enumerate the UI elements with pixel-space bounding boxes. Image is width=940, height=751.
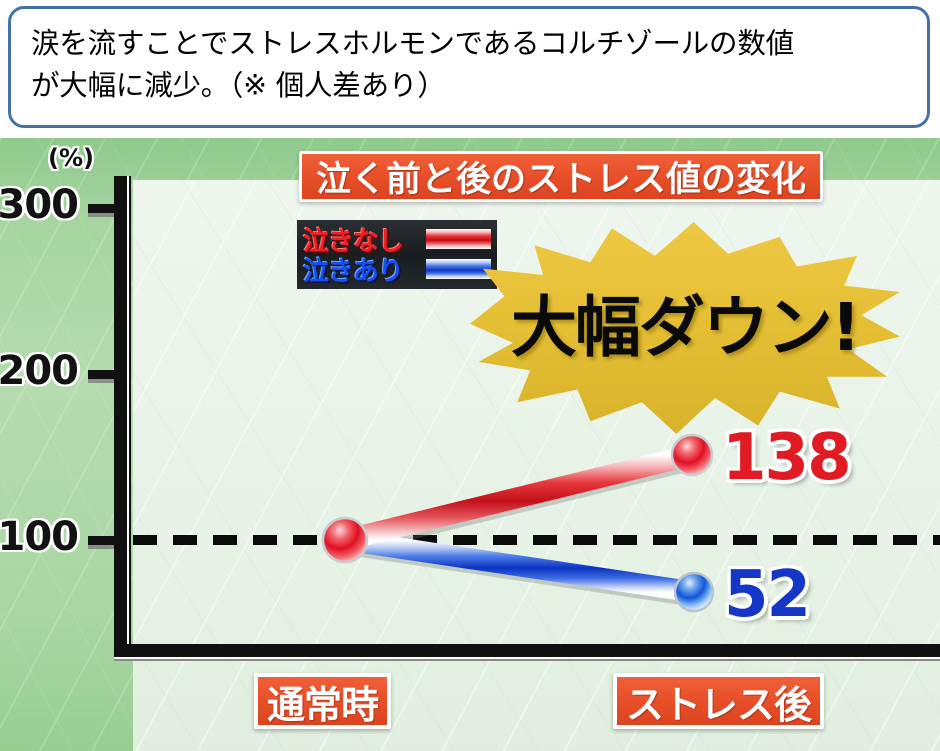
y-tick-200 <box>88 370 114 379</box>
baseline-100-dashed <box>133 535 940 545</box>
legend-item-with-crying: 泣きあり <box>303 254 491 284</box>
x-axis-label-after-stress-text: ストレス後 <box>626 674 811 729</box>
chart-panel: (%) 300 200 100 泣く前と後のストレス値の変化 泣きなし 泣きあり… <box>0 138 940 751</box>
x-axis-label-after-stress: ストレス後 <box>613 673 824 729</box>
x-axis-label-normal: 通常時 <box>254 673 391 729</box>
value-label-138: 138 <box>722 421 850 495</box>
caption-text: 涙を流すことでストレスホルモンであるコルチゾールの数値 が大幅に減少。（※ 個人… <box>31 23 915 106</box>
x-axis <box>114 644 940 657</box>
legend: 泣きなし 泣きあり <box>297 220 497 289</box>
y-axis-unit-label: (%) <box>48 144 94 172</box>
starburst-text: 大幅ダウン! <box>470 274 900 370</box>
legend-item-no-crying: 泣きなし <box>303 224 491 254</box>
chart-title-text: 泣く前と後のストレス値の変化 <box>316 151 806 202</box>
y-axis-label-300: 300 <box>0 182 78 228</box>
starburst-annotation: 大幅ダウン! <box>470 222 900 434</box>
legend-label-with-crying: 泣きあり <box>303 251 424 288</box>
caption-box: 涙を流すことでストレスホルモンであるコルチゾールの数値 が大幅に減少。（※ 個人… <box>8 6 930 128</box>
chart-title-banner: 泣く前と後のストレス値の変化 <box>299 151 823 202</box>
y-axis-label-200: 200 <box>0 348 78 394</box>
y-tick-100 <box>88 536 114 545</box>
y-tick-300 <box>88 204 114 213</box>
y-axis <box>114 176 127 648</box>
y-axis-label-100: 100 <box>0 514 78 560</box>
value-label-52: 52 <box>724 558 809 632</box>
x-axis-label-normal-text: 通常時 <box>267 674 378 729</box>
